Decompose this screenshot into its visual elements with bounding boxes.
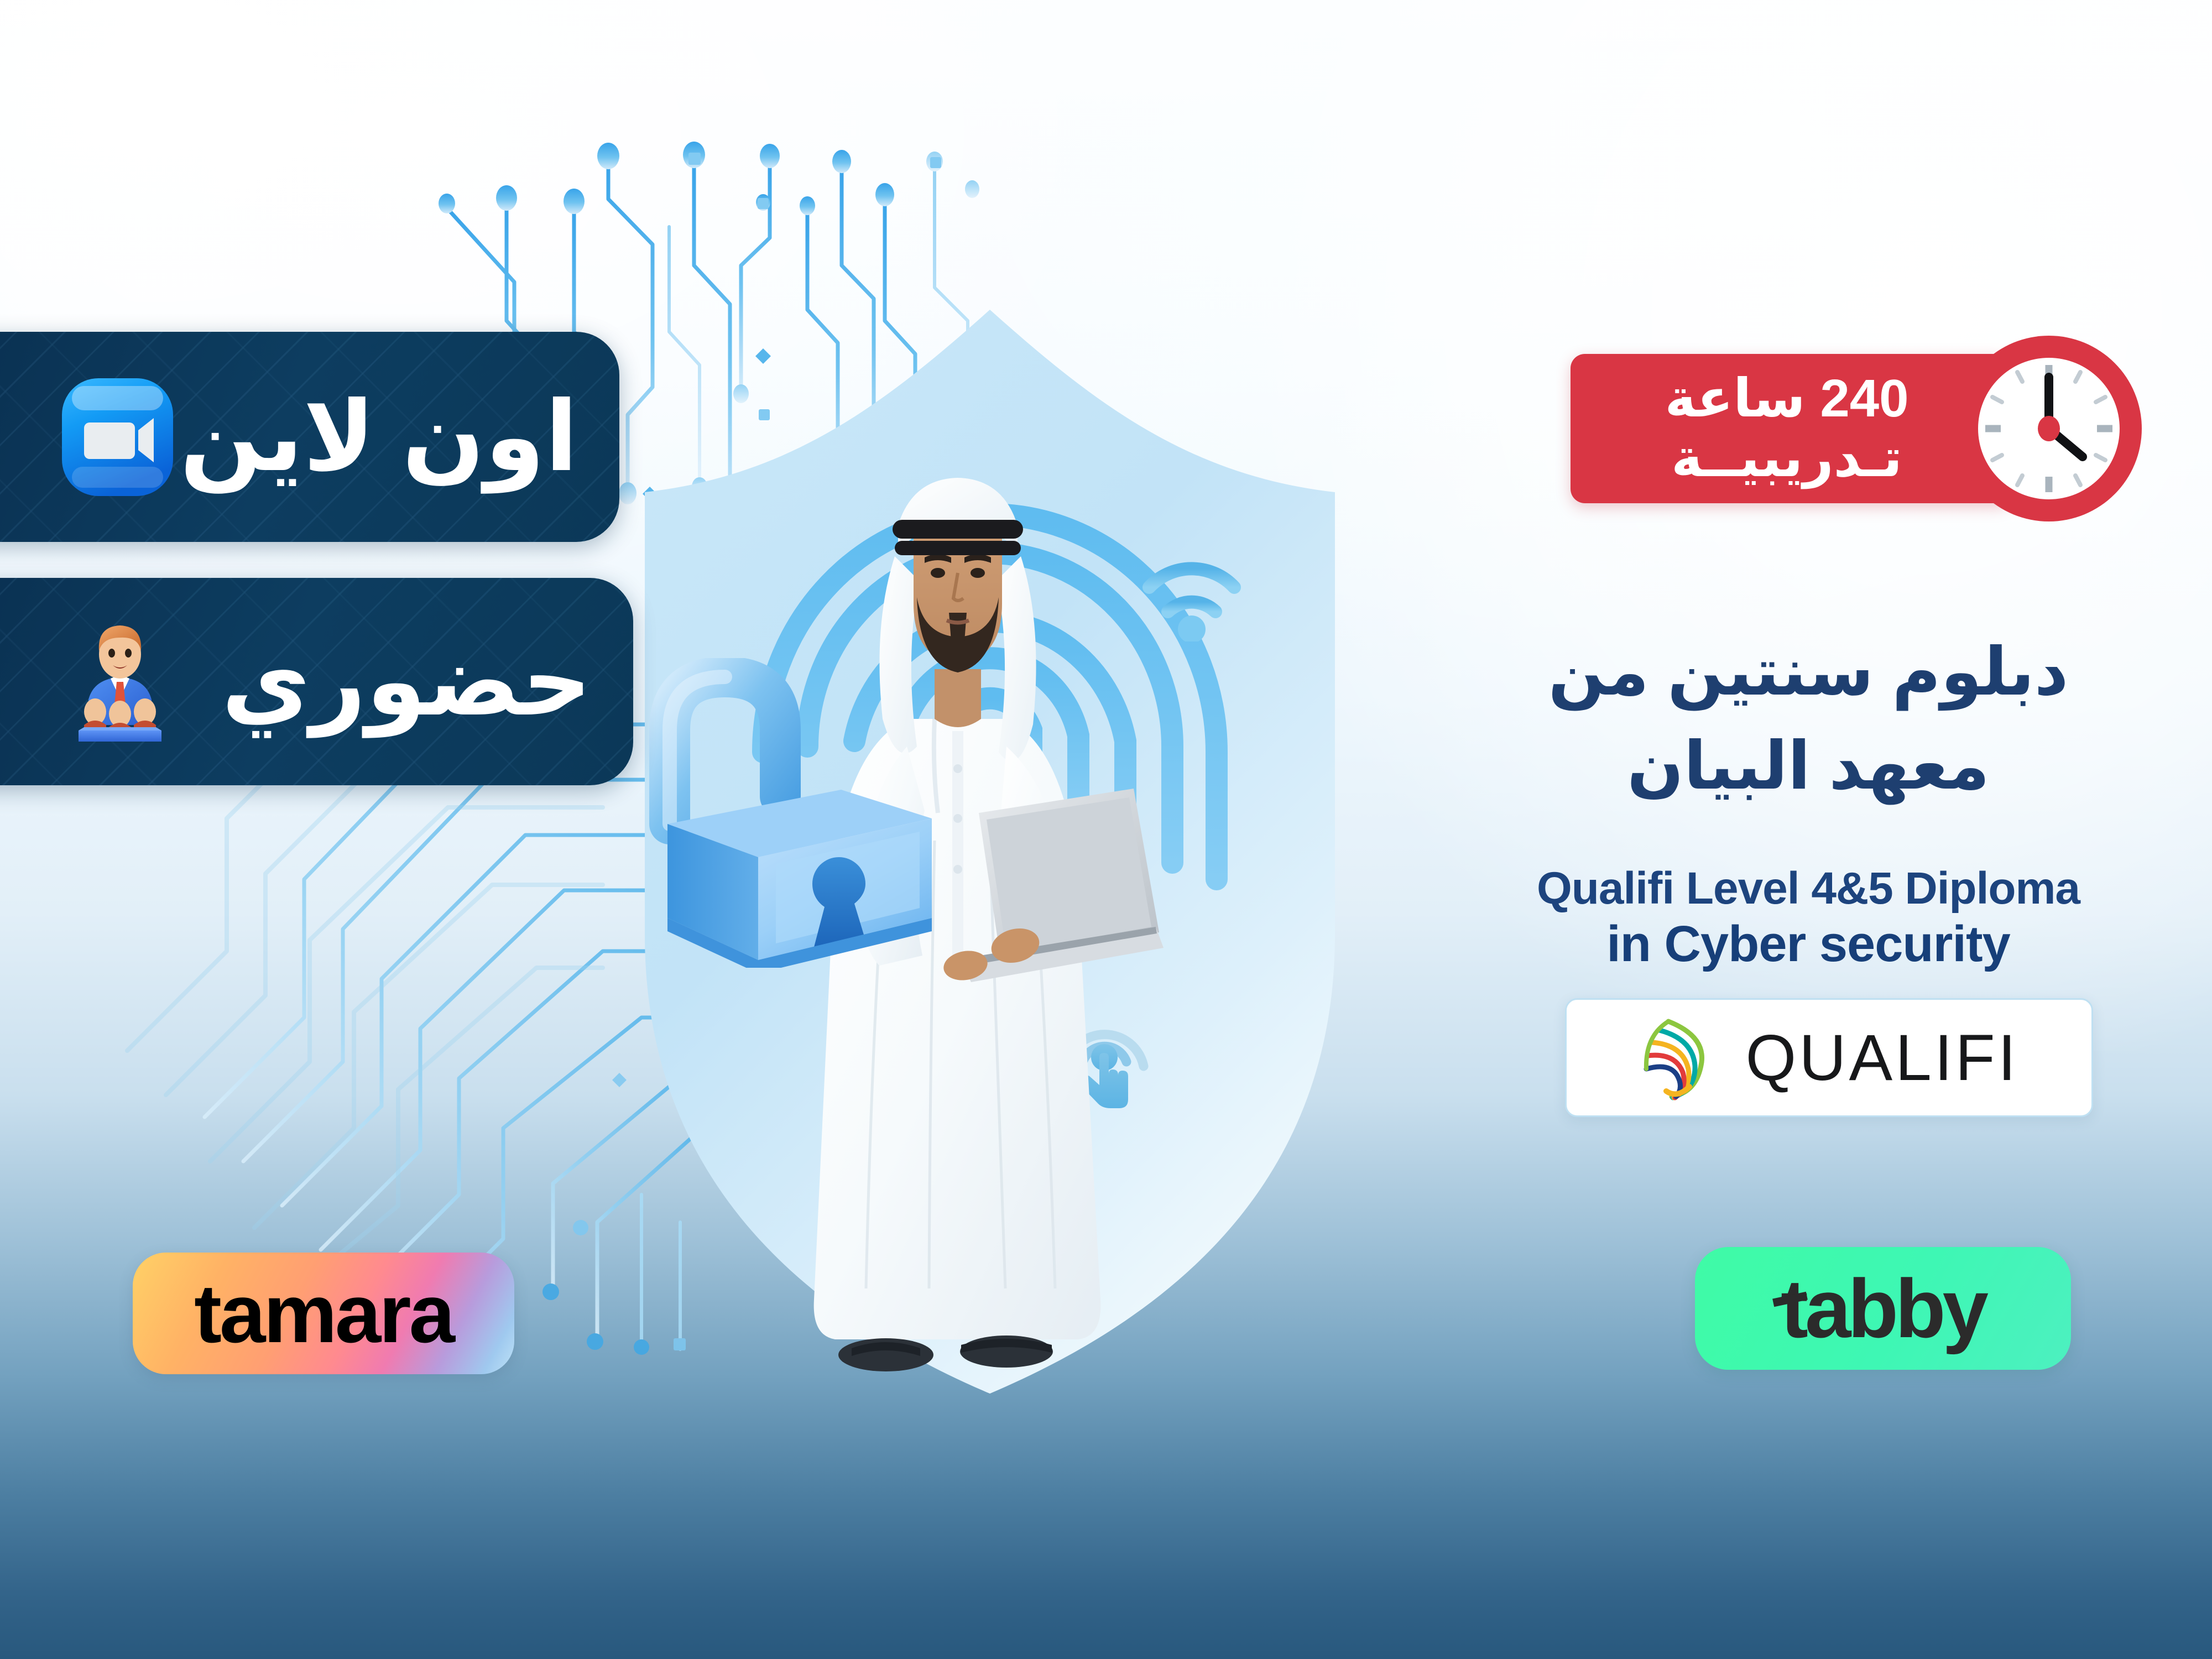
tabby-logo: tabby	[1781, 1261, 1985, 1357]
instructor-icon	[55, 617, 185, 747]
training-hours-line2: تـدريبيــة	[1665, 429, 1908, 488]
video-camera-icon	[55, 375, 180, 499]
badge-online-label: اون لاين	[180, 389, 619, 486]
training-hours-text: 240 ساعة تـدريبيــة	[1665, 369, 1918, 488]
payment-option-tabby[interactable]: tabby	[1695, 1247, 2071, 1370]
english-headline-line1: Qualifi Level 4&5 Diploma	[1482, 863, 2135, 915]
arabic-headline-line2: معهد البيان	[1482, 719, 2135, 813]
cyber-security-banner: اون لاين	[0, 0, 2212, 1659]
qualifi-accreditation-card[interactable]: QUALIFI	[1565, 998, 2093, 1117]
payment-option-tamara[interactable]: tamara	[133, 1253, 514, 1374]
training-hours-line1: 240 ساعة	[1665, 369, 1908, 429]
arabic-headline-line1: دبلوم سنتين من	[1482, 625, 2135, 719]
english-headline-line2: in Cyber security	[1482, 915, 2135, 973]
arabic-headline: دبلوم سنتين من معهد البيان	[1482, 625, 2135, 813]
padlock-icon	[644, 658, 943, 968]
badge-onsite-label: حضوري	[185, 633, 633, 730]
badge-onsite[interactable]: حضوري	[0, 578, 633, 785]
qualifi-sphere-icon	[1640, 1014, 1723, 1102]
qualifi-wordmark: QUALIFI	[1746, 1020, 2019, 1095]
clock-icon	[1952, 332, 2146, 525]
tamara-logo: tamara	[194, 1266, 453, 1361]
badge-online[interactable]: اون لاين	[0, 332, 619, 542]
training-hours-badge: 240 ساعة تـدريبيــة	[1571, 354, 2013, 503]
tabby-logo-text: tabby	[1781, 1262, 1985, 1355]
